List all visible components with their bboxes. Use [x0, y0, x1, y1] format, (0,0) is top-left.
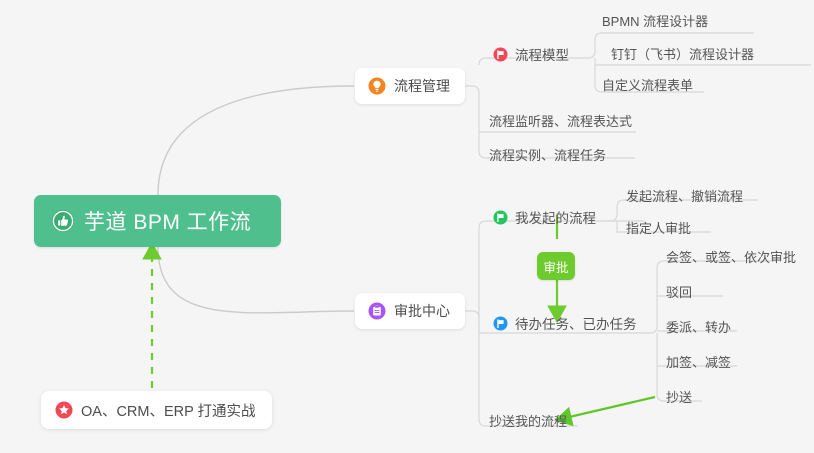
star-icon — [55, 401, 73, 419]
annotation-approve-tag[interactable]: 审批 — [537, 252, 575, 280]
root-node[interactable]: 芋道 BPM 工作流 — [34, 195, 281, 247]
clipboard-icon — [368, 302, 386, 320]
node-process-model[interactable]: 流程模型 — [493, 42, 569, 66]
edge-cc-to-my-process-arrow — [565, 397, 655, 418]
leaf-delegate-transfer[interactable]: 委派、转办 — [666, 317, 731, 339]
node-todo-done-tasks-label: 待办任务、已办任务 — [515, 313, 637, 333]
thumbs-up-icon — [51, 209, 75, 233]
node-integration-practice-label: OA、CRM、ERP 打通实战 — [81, 400, 256, 421]
node-my-initiated-process[interactable]: 我发起的流程 — [493, 205, 596, 229]
flag-icon — [493, 47, 508, 62]
leaf-add-remove-sign[interactable]: 加签、减签 — [666, 352, 731, 374]
leaf-reject[interactable]: 驳回 — [666, 282, 692, 304]
root-label: 芋道 BPM 工作流 — [84, 206, 251, 236]
leaf-bpmn-designer[interactable]: BPMN 流程设计器 — [602, 11, 708, 33]
flag-icon — [493, 316, 508, 331]
annotation-approve-tag-label: 审批 — [543, 257, 568, 276]
leaf-listener-expression[interactable]: 流程监听器、流程表达式 — [489, 111, 632, 133]
node-process-management-label: 流程管理 — [394, 76, 450, 96]
lightbulb-icon — [368, 77, 386, 95]
node-approval-center-label: 审批中心 — [394, 301, 450, 321]
node-todo-done-tasks[interactable]: 待办任务、已办任务 — [493, 311, 637, 335]
flag-icon — [493, 210, 508, 225]
node-process-model-label: 流程模型 — [515, 44, 569, 64]
leaf-start-cancel-process[interactable]: 发起流程、撤销流程 — [626, 186, 743, 208]
leaf-assignee-approval[interactable]: 指定人审批 — [626, 218, 691, 240]
leaf-carbon-copy[interactable]: 抄送 — [666, 387, 692, 409]
edge-root-to-process-management — [158, 86, 354, 195]
node-approval-center[interactable]: 审批中心 — [355, 293, 465, 329]
node-process-management[interactable]: 流程管理 — [355, 68, 465, 104]
leaf-instance-task[interactable]: 流程实例、流程任务 — [489, 145, 606, 167]
node-integration-practice[interactable]: OA、CRM、ERP 打通实战 — [41, 391, 272, 429]
leaf-cc-to-me-process[interactable]: 抄送我的流程 — [489, 411, 567, 433]
edge-root-to-approval-center — [158, 247, 354, 313]
mindmap-canvas: 芋道 BPM 工作流 流程管理 流程模型 BPMN 流程设计器 钉钉（飞书）流程… — [0, 0, 814, 453]
leaf-custom-process-form[interactable]: 自定义流程表单 — [602, 75, 693, 97]
node-my-initiated-process-label: 我发起的流程 — [515, 207, 596, 227]
leaf-dingtalk-feishu-designer[interactable]: 钉钉（飞书）流程设计器 — [611, 44, 754, 66]
leaf-countersign[interactable]: 会签、或签、依次审批 — [666, 247, 796, 269]
